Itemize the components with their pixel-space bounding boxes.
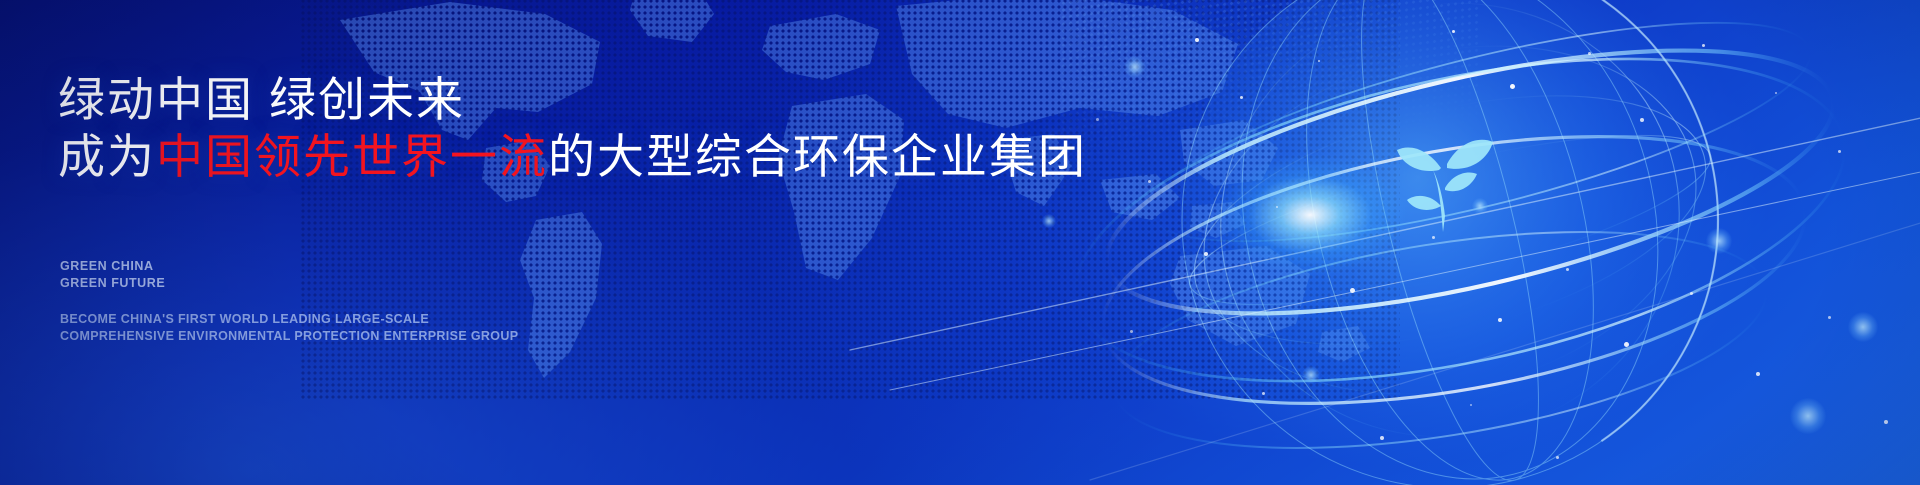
bokeh-orb (1302, 366, 1320, 384)
hex-dot-texture (1060, 0, 1480, 180)
headline-secondary-prefix: 成为 (58, 130, 156, 183)
sprout-seedling-icon (1383, 120, 1503, 235)
subline-line-1: BECOME CHINA'S FIRST WORLD LEADING LARGE… (60, 311, 518, 328)
headline-secondary: 成为中国领先世界一流的大型综合环保企业集团 (58, 129, 1058, 184)
bokeh-orb (1042, 214, 1056, 228)
hero-banner: 绿动中国 绿创未来 成为中国领先世界一流的大型综合环保企业集团 GREEN CH… (0, 0, 1920, 485)
tagline-line-2: GREEN FUTURE (60, 275, 165, 292)
headline-secondary-highlight: 中国领先世界一流 (156, 130, 548, 183)
subline-line-2: COMPREHENSIVE ENVIRONMENTAL PROTECTION E… (60, 328, 518, 345)
tagline-line-1: GREEN CHINA (60, 258, 165, 275)
headline-primary: 绿动中国 绿创未来 (58, 72, 1058, 127)
bokeh-orb (1790, 398, 1826, 434)
tagline-block: GREEN CHINA GREEN FUTURE (60, 258, 165, 292)
headline-secondary-suffix: 的大型综合环保企业集团 (548, 130, 1087, 183)
bokeh-orb (1848, 312, 1878, 342)
bokeh-orb (1124, 56, 1146, 78)
subline-block: BECOME CHINA'S FIRST WORLD LEADING LARGE… (60, 311, 518, 345)
wireframe-globe-icon (1030, 0, 1920, 485)
light-burst-icon (1215, 155, 1405, 275)
bokeh-orb (1706, 228, 1732, 254)
headline-block: 绿动中国 绿创未来 成为中国领先世界一流的大型综合环保企业集团 (58, 72, 1058, 185)
bokeh-orb (1472, 198, 1488, 214)
